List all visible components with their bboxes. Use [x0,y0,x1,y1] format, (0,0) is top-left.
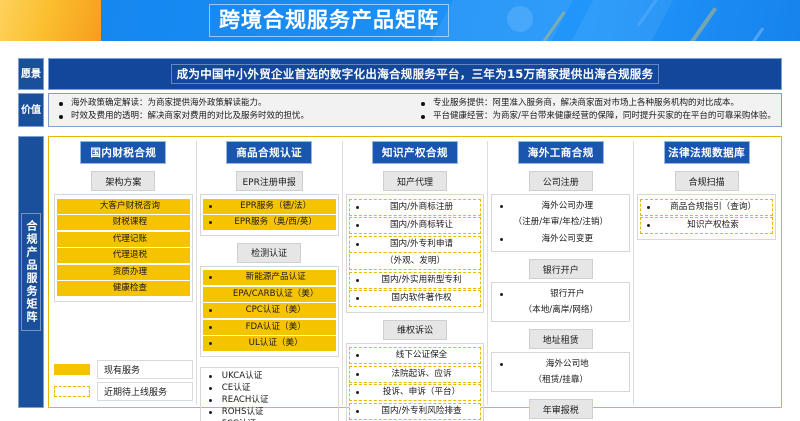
bullet-icon [63,238,66,241]
header-slash-decoration-3 [689,7,718,41]
matrix-item[interactable]: UKCA认证 [203,371,336,383]
matrix-column-header[interactable]: 知识产权合规 [372,141,458,164]
matrix-legend: 现有服务近期待上线服务 [54,360,193,405]
matrix-item[interactable]: 大客户财税咨询 [57,199,190,214]
matrix-item-label: 海外公司办理 [509,201,625,212]
bullet-icon [356,243,359,246]
matrix-item-label: 健康检查 [72,283,188,294]
bullet-icon [63,271,66,274]
matrix-item[interactable]: ROHS认证 [203,407,336,419]
value-list-item: 时效及费用的透明：解决商家对费用的对比及服务时效的担忧。 [53,110,415,123]
matrix-item-group: 线下公证保全法院起诉、应诉投诉、申诉（平台）国内/外专利风险排查（外观/结构） [346,343,485,421]
bullet-icon [356,373,359,376]
header-orange-accent [0,0,101,41]
matrix-item-label: 资质办理 [72,267,188,278]
value-list-item: 平台健康经营：为商家/平台带来健康经营的保障，同时提升买家的在平台的可靠采购体验… [415,110,777,123]
value-list-item: 专业服务提供：阿里准入服务商，解决商家面对市场上各种服务机构的对比成本。 [415,97,777,110]
matrix-item[interactable]: 国内/外商标注册 [349,199,482,216]
matrix-item-label: 国内/外专利申请 [365,239,479,250]
bullet-icon [209,387,212,390]
bullet-icon [209,205,212,208]
matrix-item[interactable]: 海外公司办理 [494,199,627,214]
bullet-icon [356,279,359,282]
matrix-subgroup-header[interactable]: 银行开户 [529,259,593,279]
matrix-item-label: CPC认证（美） [218,305,334,316]
vision-banner: 成为中国中小外贸企业首选的数字化出海合规服务平台，三年为15万商家提供出海合规服… [48,58,782,90]
matrix-item-label: 国内/外专利风险排查 [365,406,479,417]
matrix-column-header[interactable]: 法律法规数据库 [664,141,750,164]
matrix-item[interactable]: 海外公司地 [494,357,627,372]
legend-label: 近期待上线服务 [97,382,193,401]
matrix-subgroup-header[interactable]: 年审报税 [529,399,593,419]
matrix-item-note: （注册/年审/年检/注销） [494,215,627,230]
matrix-subgroup-header[interactable]: EPR注册申报 [236,171,303,191]
value-item-text: 时效及费用的透明：解决商家对费用的对比及服务时效的担忧。 [71,110,309,123]
matrix-tag: 合规产品服务矩阵 [18,136,44,408]
matrix-item-group: 海外公司地（租赁/挂靠） [491,352,630,392]
matrix-item-group: 银行开户（本地/离岸/网络） [491,282,630,322]
bullet-icon [209,375,212,378]
matrix-item[interactable]: EPR服务（德/法） [203,199,336,214]
matrix-item[interactable]: EPR服务（奥/西/英） [203,215,336,230]
matrix-item-label: 代理退税 [72,250,188,261]
matrix-item-label: 国内/外商标注册 [365,202,479,213]
bullet-icon [500,293,503,296]
matrix-item-group: 国内/外商标注册国内/外商标转让国内/外专利申请（外观、发明）国内/外实用新型专… [346,194,485,313]
bullet-icon [209,293,212,296]
value-item-text: 海外政策确定解读：为商家提供海外政策解读能力。 [71,97,267,110]
matrix-item-label: EPR服务（奥/西/英） [218,217,334,228]
value-list-item: 海外政策确定解读：为商家提供海外政策解读能力。 [53,97,415,110]
header-slash-decoration-4 [751,27,765,41]
legend-row: 近期待上线服务 [54,382,193,401]
matrix-item[interactable]: FDA认证（美） [203,320,336,335]
matrix-column: 海外工商合规公司注册海外公司办理（注册/年审/年检/注销）海外公司变更银行开户银… [487,141,633,405]
matrix-item-label: UL认证（美） [218,338,334,349]
matrix-subgroup-header[interactable]: 公司注册 [529,171,593,191]
bullet-icon [209,309,212,312]
matrix-item[interactable]: CPC认证（美） [203,303,336,318]
matrix-item-note: （租赁/挂靠） [494,373,627,388]
matrix-item-group: 商品合规指引（查询）知识产权检索 [637,194,776,240]
legend-swatch-dashed [54,386,90,397]
matrix-item-label: 大客户财税咨询 [72,201,188,212]
matrix-subgroup-header[interactable]: 维权诉讼 [383,320,447,340]
matrix-tag-text: 合规产品服务矩阵 [21,213,41,331]
header-wedge-decoration-2 [562,0,679,41]
matrix-item-label: 法院起诉、应诉 [365,369,479,380]
vision-text: 成为中国中小外贸企业首选的数字化出海合规服务平台，三年为15万商家提供出海合规服… [171,64,660,84]
matrix-item-label: 知识产权检索 [656,220,770,231]
value-tag: 价值 [18,93,44,127]
bullet-icon [421,115,425,119]
bullet-icon [209,326,212,329]
bullet-icon [63,287,66,290]
matrix-item-group: 大客户财税咨询财税课程代理记账代理退税资质办理健康检查 [54,194,193,302]
bullet-icon [500,205,503,208]
matrix-column: 国内财税合规架构方案大客户财税咨询财税课程代理记账代理退税资质办理健康检查现有服… [51,141,196,405]
bullet-icon [356,391,359,394]
matrix-item[interactable]: 海外公司变更 [494,232,627,247]
bullet-icon [209,221,212,224]
value-column-right: 专业服务提供：阿里准入服务商，解决商家面对市场上各种服务机构的对比成本。 平台健… [415,97,777,123]
matrix-item-label: 新能源产品认证 [218,272,334,283]
slide-root: 跨境合规服务产品矩阵 愿景 成为中国中小外贸企业首选的数字化出海合规服务平台，三… [0,0,800,421]
matrix-item-label: 海外公司变更 [509,234,625,245]
bullet-icon [356,410,359,413]
matrix-subgroup-header[interactable]: 架构方案 [91,171,155,191]
value-item-text: 平台健康经营：为商家/平台带来健康经营的保障，同时提升买家的在平台的可靠采购体验… [433,110,776,123]
bullet-icon [356,206,359,209]
value-item-text: 专业服务提供：阿里准入服务商，解决商家面对市场上各种服务机构的对比成本。 [433,97,739,110]
matrix-item[interactable]: 知识产权检索 [640,217,773,234]
bullet-icon [209,399,212,402]
slide-title-text: 跨境合规服务产品矩阵 [219,8,439,32]
matrix-column-header[interactable]: 国内财税合规 [80,141,166,164]
matrix-item-label: EPR服务（德/法） [218,201,334,212]
matrix-item-label: CE认证 [218,383,334,394]
matrix-item-label: 银行开户 [509,289,625,300]
bullet-icon [500,238,503,241]
matrix-item-label: 国内/外实用新型专利 [365,275,479,286]
matrix-item[interactable]: 健康检查 [57,281,190,296]
matrix-item[interactable]: 代理退税 [57,248,190,263]
matrix-item-label: 商品合规指引（查询） [656,202,770,213]
vision-tag: 愿景 [18,58,44,90]
bullet-icon [500,363,503,366]
legend-label: 现有服务 [97,360,193,379]
bullet-icon [647,224,650,227]
matrix-item[interactable]: 法院起诉、应诉 [349,366,482,383]
matrix-subgroup-header[interactable]: 地址租赁 [529,329,593,349]
matrix-item-label: 投诉、申诉（平台） [365,387,479,398]
matrix-item[interactable]: 国内/外实用新型专利 [349,272,482,289]
matrix-item-group: 新能源产品认证EPA/CARB认证（美）CPC认证（美）FDA认证（美）UL认证… [200,266,339,357]
bullet-icon [209,411,212,414]
matrix-item-note: （本地/离岸/网络） [494,303,627,318]
matrix-item-label: 国内软件著作权 [365,293,479,304]
matrix-item[interactable]: UL认证（美） [203,336,336,351]
bullet-icon [356,297,359,300]
vision-value-section: 愿景 成为中国中小外贸企业首选的数字化出海合规服务平台，三年为15万商家提供出海… [18,58,782,130]
slide-header: 跨境合规服务产品矩阵 [0,0,800,41]
vision-row: 愿景 成为中国中小外贸企业首选的数字化出海合规服务平台，三年为15万商家提供出海… [18,58,782,90]
matrix-item-label: ROHS认证 [218,407,334,418]
matrix-item[interactable]: 银行开户 [494,287,627,302]
matrix-item[interactable]: REACH认证 [203,395,336,407]
matrix-item[interactable]: 国内/外专利申请 [349,236,482,253]
value-content: 海外政策确定解读：为商家提供海外政策解读能力。 时效及费用的透明：解决商家对费用… [48,93,782,127]
slide-title: 跨境合规服务产品矩阵 [209,4,449,37]
bullet-icon [63,221,66,224]
matrix-item-label: 财税课程 [72,217,188,228]
matrix-item[interactable]: 国内软件著作权 [349,290,482,307]
matrix-item[interactable]: EPA/CARB认证（美） [203,287,336,302]
bullet-icon [63,205,66,208]
bullet-icon [63,254,66,257]
matrix-item-label: UKCA认证 [218,371,334,382]
header-blue-band: 跨境合规服务产品矩阵 [101,0,800,41]
matrix-item-label: FDA认证（美） [218,322,334,333]
matrix-subgroup-header[interactable]: 检测认证 [237,243,301,263]
matrix-item[interactable]: 线下公证保全 [349,347,482,364]
matrix-column-header[interactable]: 商品合规认证 [226,141,312,164]
matrix-item[interactable]: 资质办理 [57,265,190,280]
matrix-item[interactable]: 国内/外商标转让 [349,217,482,234]
matrix-item[interactable]: CE认证 [203,383,336,395]
value-column-left: 海外政策确定解读：为商家提供海外政策解读能力。 时效及费用的透明：解决商家对费用… [53,97,415,123]
matrix-item-label: 线下公证保全 [365,350,479,361]
matrix-column: 知识产权合规知产代理国内/外商标注册国内/外商标转让国内/外专利申请（外观、发明… [342,141,488,405]
matrix-item-label: 海外公司地 [509,359,625,370]
matrix-item-label: EPA/CARB认证（美） [218,289,334,300]
legend-row: 现有服务 [54,360,193,379]
bullet-icon [209,342,212,345]
bullet-icon [209,276,212,279]
matrix-columns-container: 国内财税合规架构方案大客户财税咨询财税课程代理记账代理退税资质办理健康检查现有服… [48,136,782,408]
matrix-item[interactable]: 新能源产品认证 [203,270,336,285]
matrix-subgroup-header[interactable]: 合规扫描 [675,171,739,191]
matrix-item[interactable]: 国内/外专利风险排查 [349,403,482,420]
header-circle-decoration [507,6,533,32]
matrix-item[interactable]: 代理记账 [57,232,190,247]
matrix-item-label: REACH认证 [218,395,334,406]
matrix-item-note: （外观、发明） [349,254,482,270]
matrix-plain-list: UKCA认证CE认证REACH认证ROHS认证FCC认证PSC认证TELEC认证 [200,367,339,421]
matrix-item-group: EPR服务（德/法）EPR服务（奥/西/英） [200,194,339,236]
bullet-icon [59,102,63,106]
matrix-item-label: 国内/外商标转让 [365,220,479,231]
legend-swatch-solid [54,364,90,375]
bullet-icon [356,354,359,357]
matrix-column: 商品合规认证EPR注册申报EPR服务（德/法）EPR服务（奥/西/英）检测认证新… [196,141,342,405]
bullet-icon [59,115,63,119]
matrix-item[interactable]: 商品合规指引（查询） [640,199,773,216]
matrix-item[interactable]: 财税课程 [57,215,190,230]
matrix-column: 法律法规数据库合规扫描商品合规指引（查询）知识产权检索 [633,141,779,405]
matrix-subgroup-header[interactable]: 知产代理 [383,171,447,191]
bullet-icon [647,206,650,209]
bullet-icon [421,102,425,106]
matrix-item-label: 代理记账 [72,234,188,245]
matrix-item-group: 海外公司办理（注册/年审/年检/注销）海外公司变更 [491,194,630,252]
matrix-item[interactable]: 投诉、申诉（平台） [349,384,482,401]
matrix-column-header[interactable]: 海外工商合规 [518,141,604,164]
value-row: 价值 海外政策确定解读：为商家提供海外政策解读能力。 时效及费用的透明：解决商家… [18,93,782,127]
product-matrix-section: 合规产品服务矩阵 国内财税合规架构方案大客户财税咨询财税课程代理记账代理退税资质… [18,136,782,408]
bullet-icon [356,224,359,227]
